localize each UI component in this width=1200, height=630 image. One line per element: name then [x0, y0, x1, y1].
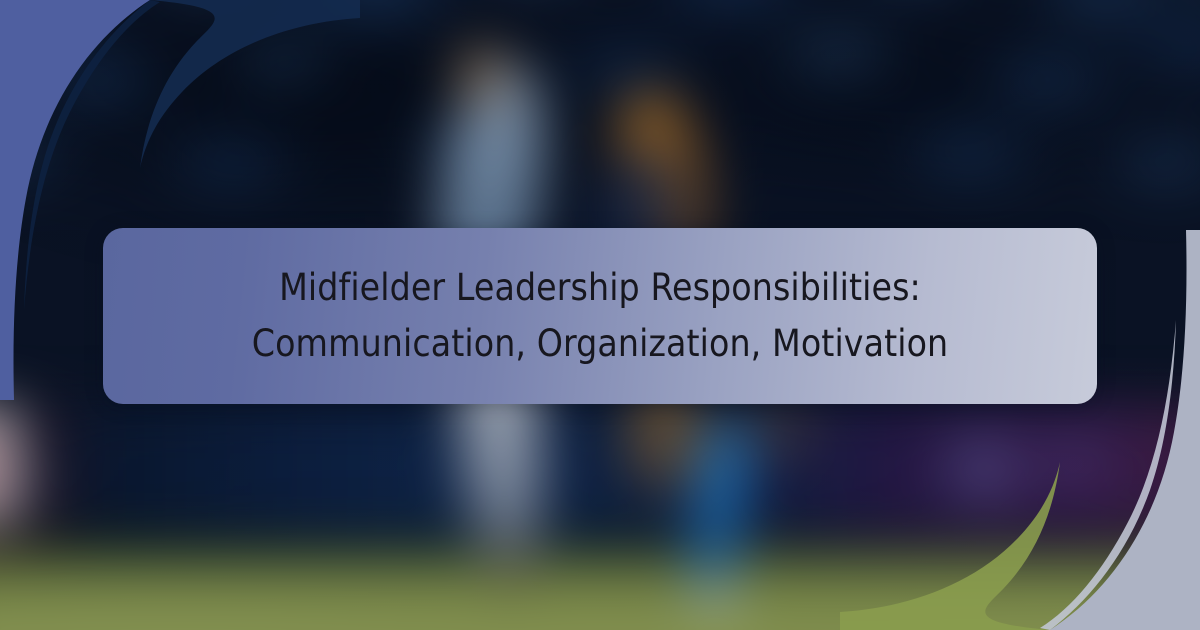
social-share-banner: Midfielder Leadership Responsibilities: …	[0, 0, 1200, 630]
title-card: Midfielder Leadership Responsibilities: …	[103, 228, 1097, 404]
page-title: Midfielder Leadership Responsibilities: …	[206, 260, 995, 372]
